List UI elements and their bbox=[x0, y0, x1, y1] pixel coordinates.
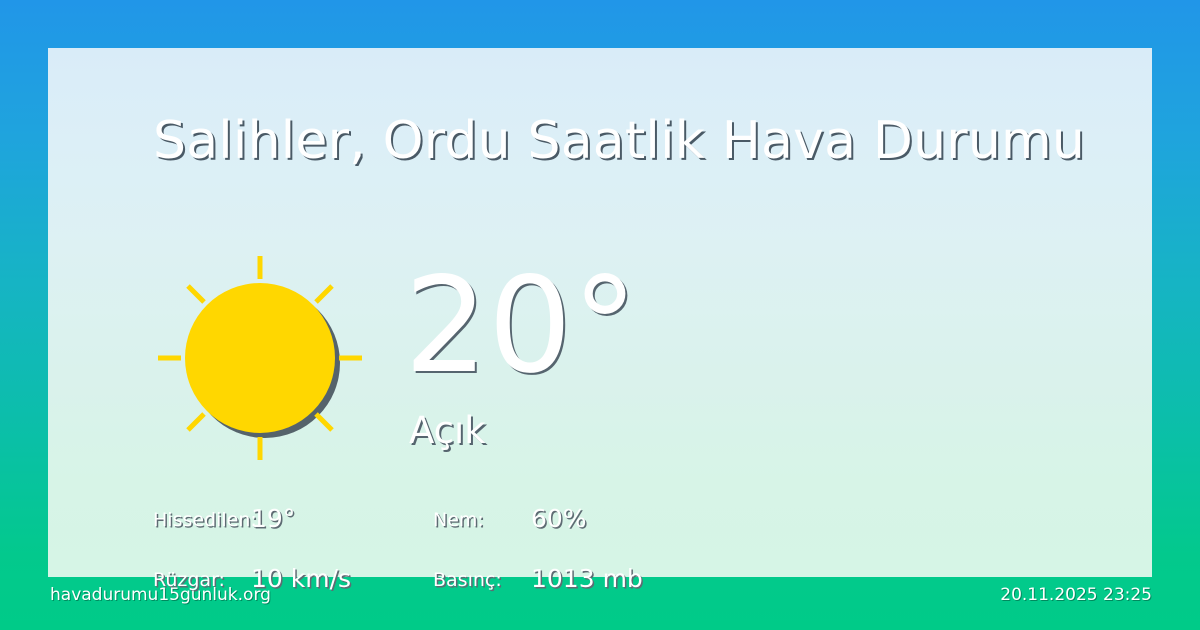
feels-like-label: Hissedilen: bbox=[153, 509, 257, 531]
humidity-value: 60% bbox=[531, 504, 587, 533]
site-url[interactable]: havadurumu15gunluk.org bbox=[50, 585, 271, 605]
condition-text: Açık bbox=[409, 412, 486, 449]
humidity-label: Nem: bbox=[433, 509, 484, 531]
page-title: Salihler, Ordu Saatlik Hava Durumu bbox=[153, 114, 1085, 169]
timestamp: 20.11.2025 23:25 bbox=[1000, 585, 1152, 605]
temperature-value: 20° bbox=[404, 260, 638, 392]
weather-widget: Salihler, Ordu Saatlik Hava Durumu bbox=[0, 0, 1200, 630]
feels-like-value: 19° bbox=[251, 504, 295, 533]
sun-icon bbox=[148, 246, 372, 470]
weather-card: Salihler, Ordu Saatlik Hava Durumu bbox=[48, 48, 1152, 577]
pressure-value: 1013 mb bbox=[531, 564, 643, 593]
pressure-label: Basınç: bbox=[433, 569, 502, 591]
